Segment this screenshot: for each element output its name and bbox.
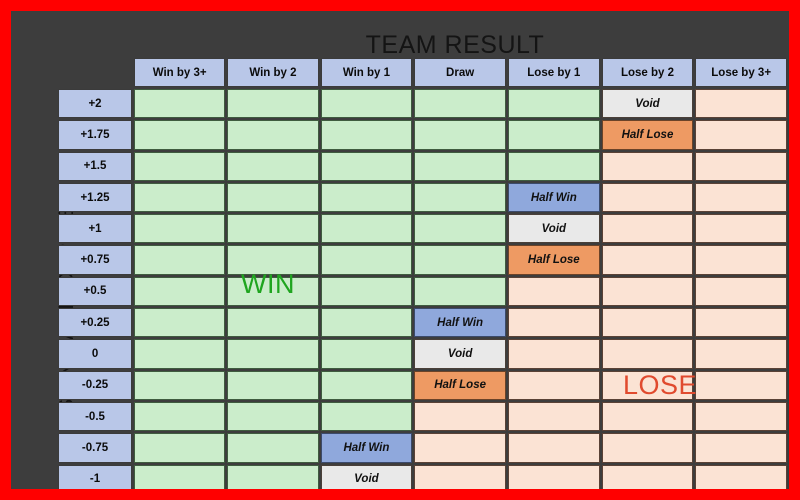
matrix-cell-win xyxy=(227,433,318,462)
matrix-cell-lose xyxy=(602,339,694,368)
corner-spacer xyxy=(58,58,132,87)
matrix-cell-lose xyxy=(414,465,506,489)
matrix-cell-lose xyxy=(602,308,694,337)
row-header: -0.25 xyxy=(58,371,132,400)
matrix-cell-win xyxy=(134,120,225,149)
matrix-cell-lose xyxy=(695,371,787,400)
matrix-row: -0.5 xyxy=(58,402,787,431)
header-row: Win by 3+Win by 2Win by 1DrawLose by 1Lo… xyxy=(58,58,787,87)
row-header: +2 xyxy=(58,89,132,118)
matrix-body: +2Void+1.75Half Lose+1.5+1.25Half Win+1V… xyxy=(58,89,787,489)
matrix-row: +1.5 xyxy=(58,152,787,181)
matrix-cell-lose xyxy=(508,339,600,368)
matrix-cell-void: Void xyxy=(508,214,600,243)
matrix-cell-win xyxy=(321,152,413,181)
column-header: Lose by 1 xyxy=(508,58,600,87)
matrix-cell-lose xyxy=(695,465,787,489)
matrix-cell-win xyxy=(414,277,506,306)
matrix-cell-lose xyxy=(602,371,694,400)
matrix-cell-win xyxy=(321,402,413,431)
matrix-cell-win xyxy=(227,308,318,337)
matrix-row: +0.75Half Lose xyxy=(58,245,787,274)
matrix-cell-lose xyxy=(695,339,787,368)
matrix-cell-win xyxy=(321,120,413,149)
matrix-cell-win xyxy=(227,152,318,181)
matrix-cell-win xyxy=(134,465,225,489)
matrix-cell-half-lose: Half Lose xyxy=(508,245,600,274)
matrix-cell-half-win: Half Win xyxy=(508,183,600,212)
matrix-cell-half-lose: Half Lose xyxy=(414,371,506,400)
matrix-cell-half-win: Half Win xyxy=(414,308,506,337)
matrix-cell-lose xyxy=(602,402,694,431)
matrix-cell-lose xyxy=(695,214,787,243)
row-header: +0.75 xyxy=(58,245,132,274)
matrix-cell-lose xyxy=(508,277,600,306)
matrix-cell-lose xyxy=(602,465,694,489)
matrix-cell-lose xyxy=(695,402,787,431)
row-header: +0.25 xyxy=(58,308,132,337)
matrix-cell-win xyxy=(134,183,225,212)
row-header: +1.5 xyxy=(58,152,132,181)
matrix-cell-win xyxy=(134,152,225,181)
matrix-cell-lose xyxy=(508,308,600,337)
matrix-cell-lose xyxy=(602,152,694,181)
matrix-row: +1.25Half Win xyxy=(58,183,787,212)
column-header: Lose by 2 xyxy=(602,58,694,87)
matrix-cell-lose xyxy=(602,433,694,462)
column-header: Win by 3+ xyxy=(134,58,225,87)
matrix-cell-win xyxy=(508,152,600,181)
poster-canvas: TEAM RESULT ASIAN HANDICAP BET Win by 3+… xyxy=(11,11,789,489)
matrix-cell-win xyxy=(227,339,318,368)
matrix-cell-lose xyxy=(695,433,787,462)
matrix-cell-void: Void xyxy=(414,339,506,368)
poster-red-frame: TEAM RESULT ASIAN HANDICAP BET Win by 3+… xyxy=(0,0,800,500)
matrix-cell-win xyxy=(134,308,225,337)
matrix-cell-win xyxy=(321,89,413,118)
row-header: -0.5 xyxy=(58,402,132,431)
matrix-header: Win by 3+Win by 2Win by 1DrawLose by 1Lo… xyxy=(58,58,787,87)
matrix-cell-win xyxy=(321,277,413,306)
matrix-cell-win xyxy=(414,89,506,118)
row-header: +1 xyxy=(58,214,132,243)
matrix-cell-win xyxy=(134,371,225,400)
matrix-cell-lose xyxy=(508,433,600,462)
matrix-cell-win xyxy=(134,339,225,368)
asian-handicap-matrix: Win by 3+Win by 2Win by 1DrawLose by 1Lo… xyxy=(56,56,789,489)
column-header: Win by 2 xyxy=(227,58,318,87)
matrix-cell-win xyxy=(227,89,318,118)
matrix-row: -1Void xyxy=(58,465,787,489)
matrix-row: -0.25Half Lose xyxy=(58,371,787,400)
matrix-cell-win xyxy=(134,402,225,431)
matrix-row: -0.75Half Win xyxy=(58,433,787,462)
row-header: 0 xyxy=(58,339,132,368)
matrix-cell-win xyxy=(227,465,318,489)
matrix-cell-win xyxy=(321,339,413,368)
matrix-cell-half-lose: Half Lose xyxy=(602,120,694,149)
matrix-cell-win xyxy=(134,277,225,306)
matrix-cell-lose xyxy=(695,277,787,306)
matrix-cell-lose xyxy=(695,183,787,212)
matrix-cell-win xyxy=(414,152,506,181)
matrix-cell-lose xyxy=(695,120,787,149)
matrix-row: +0.5 xyxy=(58,277,787,306)
matrix-cell-lose xyxy=(602,245,694,274)
row-header: +0.5 xyxy=(58,277,132,306)
matrix-cell-win xyxy=(414,120,506,149)
matrix-cell-win xyxy=(134,214,225,243)
row-header: +1.75 xyxy=(58,120,132,149)
matrix-cell-win xyxy=(134,89,225,118)
matrix-cell-lose xyxy=(414,402,506,431)
matrix-cell-lose xyxy=(414,433,506,462)
matrix-cell-win xyxy=(321,183,413,212)
matrix-cell-win xyxy=(134,433,225,462)
matrix-cell-win xyxy=(321,308,413,337)
matrix-cell-win xyxy=(414,183,506,212)
matrix-cell-lose xyxy=(695,152,787,181)
matrix-row: 0Void xyxy=(58,339,787,368)
matrix-cell-win xyxy=(321,214,413,243)
row-header: +1.25 xyxy=(58,183,132,212)
matrix-cell-win xyxy=(227,120,318,149)
matrix-row: +1.75Half Lose xyxy=(58,120,787,149)
matrix-cell-win xyxy=(227,214,318,243)
row-header: -0.75 xyxy=(58,433,132,462)
column-header: Lose by 3+ xyxy=(695,58,787,87)
matrix-cell-win xyxy=(227,371,318,400)
matrix-cell-lose xyxy=(602,183,694,212)
matrix-cell-lose xyxy=(508,402,600,431)
matrix-cell-win xyxy=(508,89,600,118)
matrix-cell-win xyxy=(227,183,318,212)
matrix-cell-lose xyxy=(695,245,787,274)
matrix-cell-win xyxy=(508,120,600,149)
matrix-row: +2Void xyxy=(58,89,787,118)
matrix-cell-win xyxy=(227,402,318,431)
matrix-cell-win xyxy=(227,245,318,274)
column-header: Draw xyxy=(414,58,506,87)
matrix-cell-void: Void xyxy=(321,465,413,489)
matrix-cell-half-win: Half Win xyxy=(321,433,413,462)
matrix-cell-win xyxy=(134,245,225,274)
matrix-cell-win xyxy=(321,245,413,274)
matrix-cell-win xyxy=(414,214,506,243)
matrix-cell-lose xyxy=(508,465,600,489)
matrix-cell-lose xyxy=(508,371,600,400)
matrix-row: +0.25Half Win xyxy=(58,308,787,337)
matrix-cell-lose xyxy=(695,308,787,337)
matrix-row: +1Void xyxy=(58,214,787,243)
matrix-cell-win xyxy=(227,277,318,306)
matrix-cell-lose xyxy=(602,277,694,306)
matrix-cell-lose xyxy=(695,89,787,118)
column-header: Win by 1 xyxy=(321,58,413,87)
row-header: -1 xyxy=(58,465,132,489)
matrix-cell-lose xyxy=(602,214,694,243)
matrix-cell-void: Void xyxy=(602,89,694,118)
matrix-cell-win xyxy=(321,371,413,400)
matrix-cell-win xyxy=(414,245,506,274)
